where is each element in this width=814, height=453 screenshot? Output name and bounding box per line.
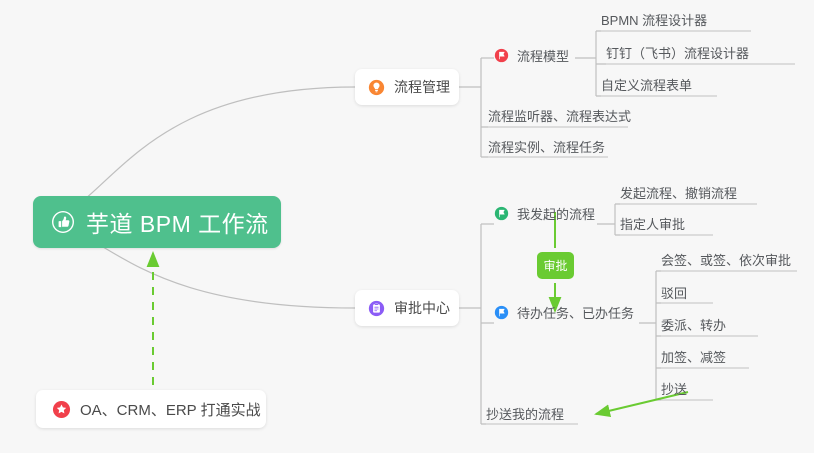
leaf-custom-process-form[interactable]: 自定义流程表单 bbox=[601, 79, 692, 92]
leaf-assignee-approval[interactable]: 指定人审批 bbox=[620, 218, 685, 231]
leaf-process-instance-task[interactable]: 流程实例、流程任务 bbox=[488, 141, 605, 154]
lightbulb-icon bbox=[368, 79, 385, 96]
leaf-label-delegate-transfer: 委派、转办 bbox=[661, 319, 726, 332]
leaf-label-add-remove-sign: 加签、减签 bbox=[661, 351, 726, 364]
root-node[interactable]: 芋道 BPM 工作流 bbox=[33, 196, 281, 248]
leaf-add-remove-sign[interactable]: 加签、减签 bbox=[661, 351, 726, 364]
leaf-delegate-transfer[interactable]: 委派、转办 bbox=[661, 319, 726, 332]
approve-badge[interactable]: 审批 bbox=[537, 252, 574, 279]
leaf-bpmn-designer[interactable]: BPMN 流程设计器 bbox=[601, 14, 707, 27]
branch-node-process-management[interactable]: 流程管理 bbox=[355, 69, 459, 105]
node-process-model[interactable]: 流程模型 bbox=[494, 46, 569, 65]
leaf-label-countersign-orsign-sequential: 会签、或签、依次审批 bbox=[661, 254, 791, 267]
branch-label-process-management: 流程管理 bbox=[394, 77, 450, 97]
star-icon bbox=[52, 400, 71, 419]
leaf-label-custom-process-form: 自定义流程表单 bbox=[601, 79, 692, 92]
leaf-dingtalk-feishu-designer[interactable]: 钉钉（飞书）流程设计器 bbox=[606, 47, 749, 60]
mindmap-canvas: 芋道 BPM 工作流 流程管理 流程模型 BPMN 流程设计器 钉钉（飞书）流程… bbox=[0, 0, 814, 453]
leaf-cc-my-processes[interactable]: 抄送我的流程 bbox=[486, 408, 564, 421]
leaf-cc[interactable]: 抄送 bbox=[661, 383, 687, 396]
leaf-label-assignee-approval: 指定人审批 bbox=[620, 218, 685, 231]
thumbs-up-icon bbox=[51, 210, 75, 234]
leaf-label-cc: 抄送 bbox=[661, 383, 687, 396]
leaf-start-cancel-process[interactable]: 发起流程、撤销流程 bbox=[620, 187, 737, 200]
node-todo-done-tasks[interactable]: 待办任务、已办任务 bbox=[494, 303, 634, 322]
leaf-reject[interactable]: 驳回 bbox=[661, 287, 687, 300]
flag-icon bbox=[494, 48, 509, 63]
leaf-label-bpmn-designer: BPMN 流程设计器 bbox=[601, 14, 707, 27]
approve-badge-label: 审批 bbox=[543, 257, 567, 274]
clipboard-icon bbox=[368, 300, 385, 317]
flag-icon bbox=[494, 206, 509, 221]
branch-node-approval-center[interactable]: 审批中心 bbox=[355, 290, 459, 326]
leaf-label-dingtalk-feishu-designer: 钉钉（飞书）流程设计器 bbox=[606, 47, 749, 60]
branch-label-approval-center: 审批中心 bbox=[394, 298, 450, 318]
leaf-label-start-cancel-process: 发起流程、撤销流程 bbox=[620, 187, 737, 200]
footer-node-oa-crm-erp[interactable]: OA、CRM、ERP 打通实战 bbox=[36, 390, 266, 428]
root-node-label: 芋道 BPM 工作流 bbox=[86, 205, 269, 239]
leaf-label-process-instance-task: 流程实例、流程任务 bbox=[488, 141, 605, 154]
node-label-my-started-processes: 我发起的流程 bbox=[517, 204, 595, 223]
node-label-todo-done-tasks: 待办任务、已办任务 bbox=[517, 303, 634, 322]
leaf-label-cc-my-processes: 抄送我的流程 bbox=[486, 408, 564, 421]
leaf-countersign-orsign-sequential[interactable]: 会签、或签、依次审批 bbox=[661, 254, 791, 267]
leaf-label-process-listener-expression: 流程监听器、流程表达式 bbox=[488, 110, 631, 123]
flag-icon bbox=[494, 305, 509, 320]
leaf-label-reject: 驳回 bbox=[661, 287, 687, 300]
leaf-process-listener-expression[interactable]: 流程监听器、流程表达式 bbox=[488, 110, 631, 123]
footer-node-label: OA、CRM、ERP 打通实战 bbox=[80, 399, 261, 420]
node-my-started-processes[interactable]: 我发起的流程 bbox=[494, 204, 595, 223]
node-label-process-model: 流程模型 bbox=[517, 46, 569, 65]
